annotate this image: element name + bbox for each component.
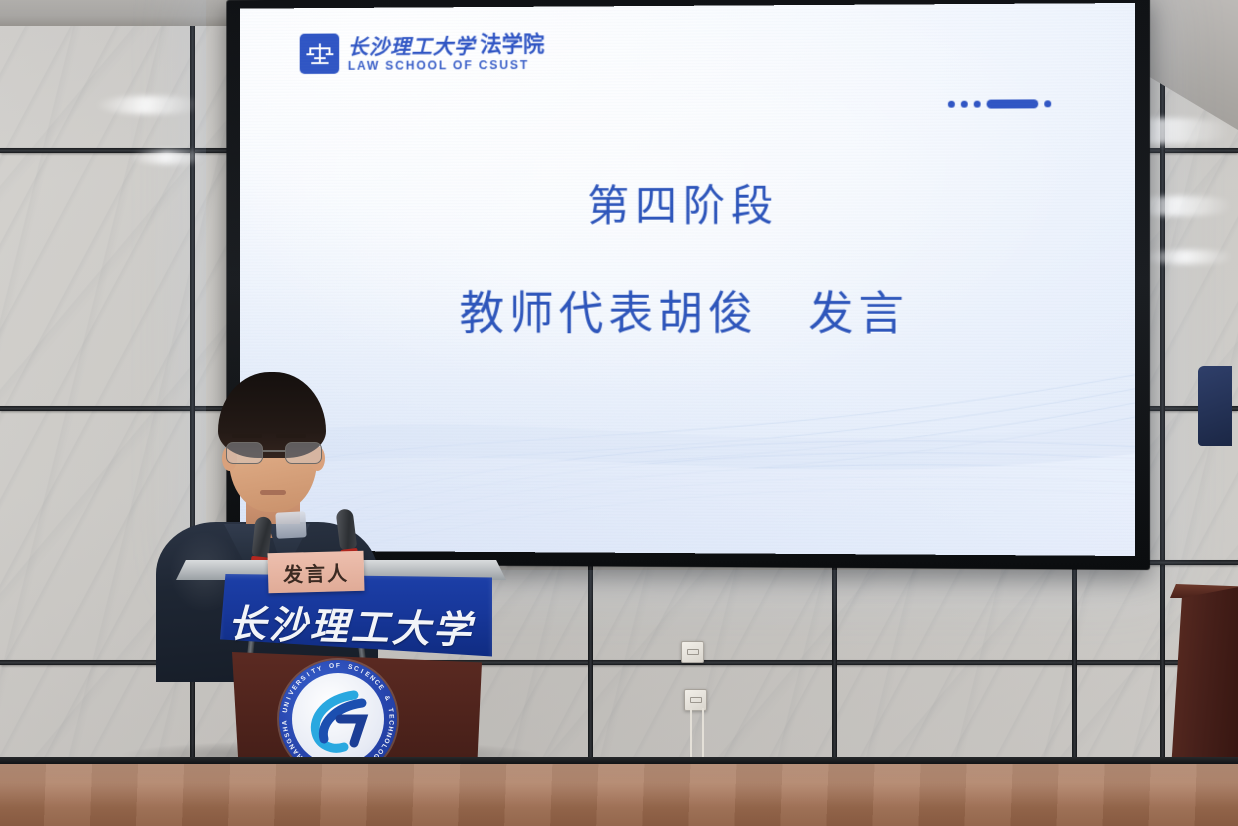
wall-grout-line — [1160, 0, 1165, 760]
slide-logo: 长沙理工大学 法学院 LAW SCHOOL OF CSUST — [300, 32, 545, 74]
deco-dot-icon — [948, 101, 955, 108]
slide-title-line1: 第四阶段 — [240, 171, 1135, 234]
speaker-eyebrow-right — [276, 434, 306, 438]
slide-logo-en: LAW SCHOOL OF CSUST — [348, 59, 545, 72]
slide-logo-school-cn: 法学院 — [480, 34, 544, 56]
slide-title-line2: 教师代表胡俊 发言 — [240, 277, 1135, 343]
slide-logo-text: 长沙理工大学 法学院 LAW SCHOOL OF CSUST — [348, 34, 545, 72]
scene-photo: 长沙理工大学 法学院 LAW SCHOOL OF CSUST 第四阶段 教师代表… — [0, 0, 1238, 826]
eyeglasses-icon — [226, 442, 322, 464]
speaker-chest-badge — [275, 511, 306, 539]
university-emblem-swirl-icon — [292, 673, 384, 765]
wall-grout-line — [588, 560, 593, 780]
slide-logo-cn: 长沙理工大学 法学院 — [348, 34, 545, 57]
scales-of-justice-icon — [300, 34, 339, 74]
speaker-name-card-label: 发言人 — [283, 557, 350, 588]
slide-dot-bar-decoration — [948, 99, 1051, 108]
slide-title-block: 第四阶段 教师代表胡俊 发言 — [240, 171, 1135, 343]
speaker-eyebrow-left — [232, 434, 262, 438]
wall-switch[interactable] — [681, 641, 704, 663]
deco-bar-icon — [987, 99, 1039, 108]
deco-dot-icon — [1044, 100, 1051, 107]
lectern-university-name: 长沙理工大学 — [227, 592, 484, 654]
speaker-mouth — [260, 490, 286, 495]
wall-grout-line — [832, 560, 837, 780]
deco-dot-icon — [961, 101, 968, 108]
chair-backrest — [1198, 366, 1232, 446]
wall-baseboard — [0, 757, 1238, 764]
slide-logo-university-cn: 长沙理工大学 — [348, 35, 476, 56]
power-outlet[interactable] — [684, 689, 707, 711]
floor-reflection — [0, 764, 1238, 826]
deco-dot-icon — [974, 101, 981, 108]
speaker-name-card: 发言人 — [267, 551, 364, 593]
